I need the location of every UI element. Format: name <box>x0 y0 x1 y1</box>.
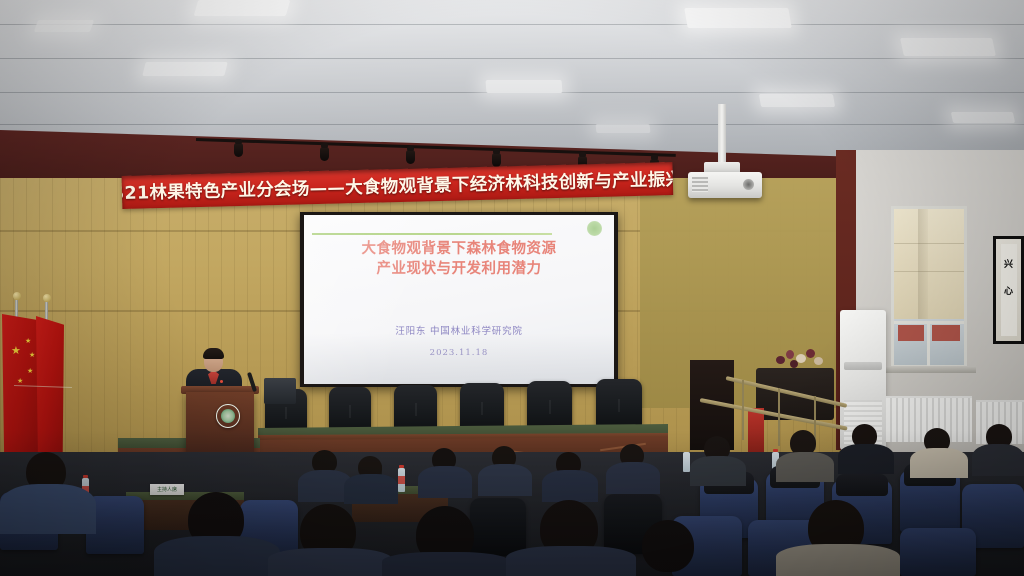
stair-post-2 <box>778 388 780 446</box>
flower-petal <box>790 360 798 368</box>
audience-person-shoulders <box>0 484 96 534</box>
nameplate-card: 主持人席 <box>150 484 184 495</box>
track-spotlight-4 <box>492 153 501 167</box>
audience-person-shoulders <box>382 552 510 576</box>
calligraphy-char-1: 兴 <box>1004 257 1013 270</box>
exterior-brick-1 <box>898 325 924 341</box>
speaker-lapel-pin-icon <box>220 380 223 383</box>
calligraphy-mount: 兴 心 <box>996 239 1021 341</box>
ceiling-projector <box>688 172 762 198</box>
stair-post-1 <box>742 380 744 440</box>
audience-person-shoulders <box>542 470 598 502</box>
stage-chair-4[interactable] <box>460 383 504 430</box>
audience-seat-headrest <box>836 474 888 496</box>
water-bottle-cap-3 <box>773 449 778 452</box>
audience-person-shoulders <box>478 464 532 496</box>
fire-extinguisher-box <box>748 408 764 452</box>
stage-chair-3[interactable] <box>394 385 437 431</box>
slide-accent-line <box>312 233 552 235</box>
audience-person-shoulders <box>838 444 894 474</box>
window-sill <box>886 366 976 373</box>
nameplate-text: 主持人席 <box>157 486 177 493</box>
window <box>891 206 967 368</box>
water-bottle-cap-2 <box>83 475 88 478</box>
projector-lens-icon <box>743 179 754 190</box>
audience-person-shoulders <box>418 466 472 498</box>
conference-room-photo: S21林果特色产业分会场——大食物观背景下经济林科技创新与产业振兴 大食物观背景… <box>0 0 1024 576</box>
water-bottle-4 <box>683 452 690 472</box>
flower-arrangement <box>770 346 826 372</box>
projection-screen-frame: 大食物观背景下森林食物资源 产业现状与开发利用潜力 汪阳东 中国林业科学研究院 … <box>300 212 618 387</box>
speaker-podium <box>186 392 254 460</box>
track-spotlight-2 <box>320 147 329 161</box>
calligraphy-char-2: 心 <box>1004 284 1013 297</box>
audience-person-shoulders <box>776 452 834 482</box>
speaker-hair <box>203 348 224 359</box>
projector-pole <box>718 104 726 166</box>
audience-person-shoulders <box>910 448 968 478</box>
audience-person-head <box>642 520 694 572</box>
slide-author: 汪阳东 中国林业科学研究院 <box>304 323 614 337</box>
audience-person-shoulders <box>154 536 280 576</box>
exterior-brick-2 <box>932 325 960 341</box>
flower-petal <box>776 356 785 364</box>
calligraphy-paper: 兴 心 <box>1001 244 1017 336</box>
blind-shadow <box>918 209 928 325</box>
flower-petal <box>806 349 815 358</box>
flag-finial-1 <box>13 292 21 300</box>
audience-seat[interactable] <box>900 528 976 576</box>
slide-title: 大食物观背景下森林食物资源 产业现状与开发利用潜力 <box>304 239 614 279</box>
stage-chair-6[interactable] <box>596 379 642 428</box>
podium-emblem-icon <box>216 404 240 428</box>
projection-screen: 大食物观背景下森林食物资源 产业现状与开发利用潜力 汪阳东 中国林业科学研究院 … <box>304 215 614 384</box>
track-spotlight-3 <box>406 150 415 164</box>
flower-petal <box>786 350 794 359</box>
audience-person-shoulders <box>344 474 398 504</box>
slide-title-line-2: 产业现状与开发利用潜力 <box>304 259 614 279</box>
ac-control-panel[interactable] <box>844 362 882 370</box>
stage-chair-2[interactable] <box>329 387 371 432</box>
audience-person-shoulders <box>690 456 746 486</box>
flag-finial-2 <box>43 294 51 302</box>
podium-emblem-inner <box>221 409 235 423</box>
slide-title-line-1: 大食物观背景下森林食物资源 <box>304 239 614 259</box>
audience-person-shoulders <box>268 548 392 576</box>
window-mullion-horizontal <box>894 321 964 324</box>
flower-petal <box>814 357 823 365</box>
audience-person-shoulders <box>506 546 636 576</box>
audience-person-shoulders <box>606 462 660 494</box>
water-bottle-cap-1 <box>399 465 404 468</box>
audience-person-shoulders <box>776 544 900 576</box>
audience-person-shoulders <box>972 444 1024 476</box>
podium-monitor <box>264 378 296 404</box>
window-blind <box>894 209 964 325</box>
slide-date: 2023.11.18 <box>304 348 614 358</box>
audience-seat[interactable] <box>470 498 526 556</box>
water-bottle-label-1 <box>398 476 405 484</box>
window-mullion-vertical <box>927 321 930 367</box>
calligraphy-artwork: 兴 心 <box>993 236 1024 344</box>
track-spotlight-1 <box>234 143 243 157</box>
stage-chair-5[interactable] <box>527 381 572 429</box>
projector-vent <box>692 177 708 192</box>
slide-logo-icon <box>587 221 602 236</box>
